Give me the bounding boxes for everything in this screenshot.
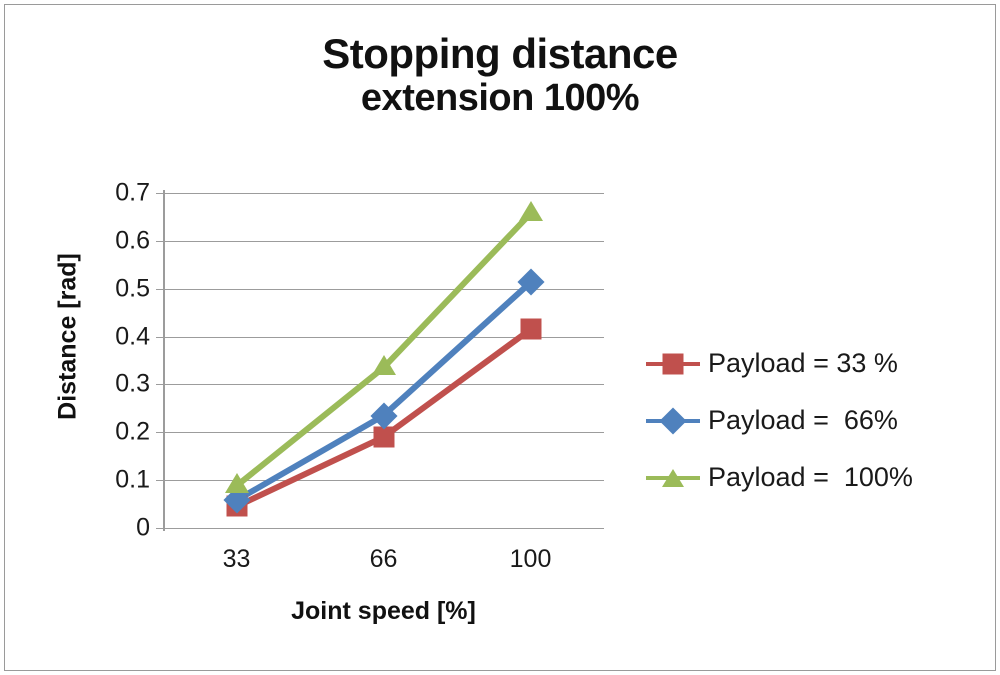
chart-title-line-1: Stopping distance	[322, 30, 678, 77]
y-axis-tick-mark	[156, 432, 163, 433]
legend-label: Payload = 66%	[708, 405, 898, 436]
legend-label: Payload = 100%	[708, 462, 913, 493]
x-axis-title: Joint speed [%]	[163, 597, 604, 626]
series-line	[237, 282, 531, 500]
y-axis-tick-mark	[156, 193, 163, 194]
y-axis-tick-mark	[156, 528, 163, 529]
legend-item[interactable]: Payload = 66%	[646, 392, 991, 449]
y-axis-tick-label: 0.2	[90, 418, 150, 447]
x-axis-tick-label: 100	[471, 545, 591, 574]
y-axis-tick-mark	[156, 337, 163, 338]
y-axis-tick-mark	[156, 480, 163, 481]
data-point-marker	[372, 355, 396, 375]
chart-container: Stopping distance extension 100% 0.70.60…	[0, 0, 1000, 675]
y-axis-title: Distance [rad]	[54, 227, 83, 447]
plot-area	[163, 193, 604, 528]
data-point-marker	[225, 473, 249, 493]
y-axis-tick-mark	[156, 289, 163, 290]
chart-legend: Payload = 33 %Payload = 66%Payload = 100…	[646, 335, 991, 506]
legend-marker-icon	[662, 469, 684, 487]
y-axis-tick-label: 0	[90, 514, 150, 543]
legend-label: Payload = 33 %	[708, 348, 898, 379]
y-axis-tick-labels: 0.70.60.50.40.30.20.10	[90, 0, 150, 675]
y-axis-tick-mark	[156, 384, 163, 385]
legend-item[interactable]: Payload = 100%	[646, 449, 991, 506]
chart-title-line-2: extension 100%	[120, 77, 880, 120]
data-point-marker	[519, 201, 543, 221]
y-axis-tick-label: 0.1	[90, 466, 150, 495]
x-axis-tick-label: 33	[177, 545, 297, 574]
gridline	[163, 528, 604, 529]
chart-title: Stopping distance extension 100%	[120, 30, 880, 120]
legend-swatch	[646, 408, 700, 434]
legend-marker-icon	[660, 407, 687, 434]
y-axis-tick-label: 0.5	[90, 274, 150, 303]
y-axis-tick-mark	[156, 241, 163, 242]
y-axis-tick-label: 0.4	[90, 322, 150, 351]
y-axis-tick-label: 0.7	[90, 179, 150, 208]
x-axis-tick-label: 66	[324, 545, 444, 574]
legend-marker-icon	[663, 353, 684, 374]
y-axis-tick-label: 0.6	[90, 226, 150, 255]
legend-swatch	[646, 465, 700, 491]
data-point-marker	[520, 319, 541, 340]
legend-item[interactable]: Payload = 33 %	[646, 335, 991, 392]
legend-swatch	[646, 351, 700, 377]
y-axis-tick-label: 0.3	[90, 370, 150, 399]
